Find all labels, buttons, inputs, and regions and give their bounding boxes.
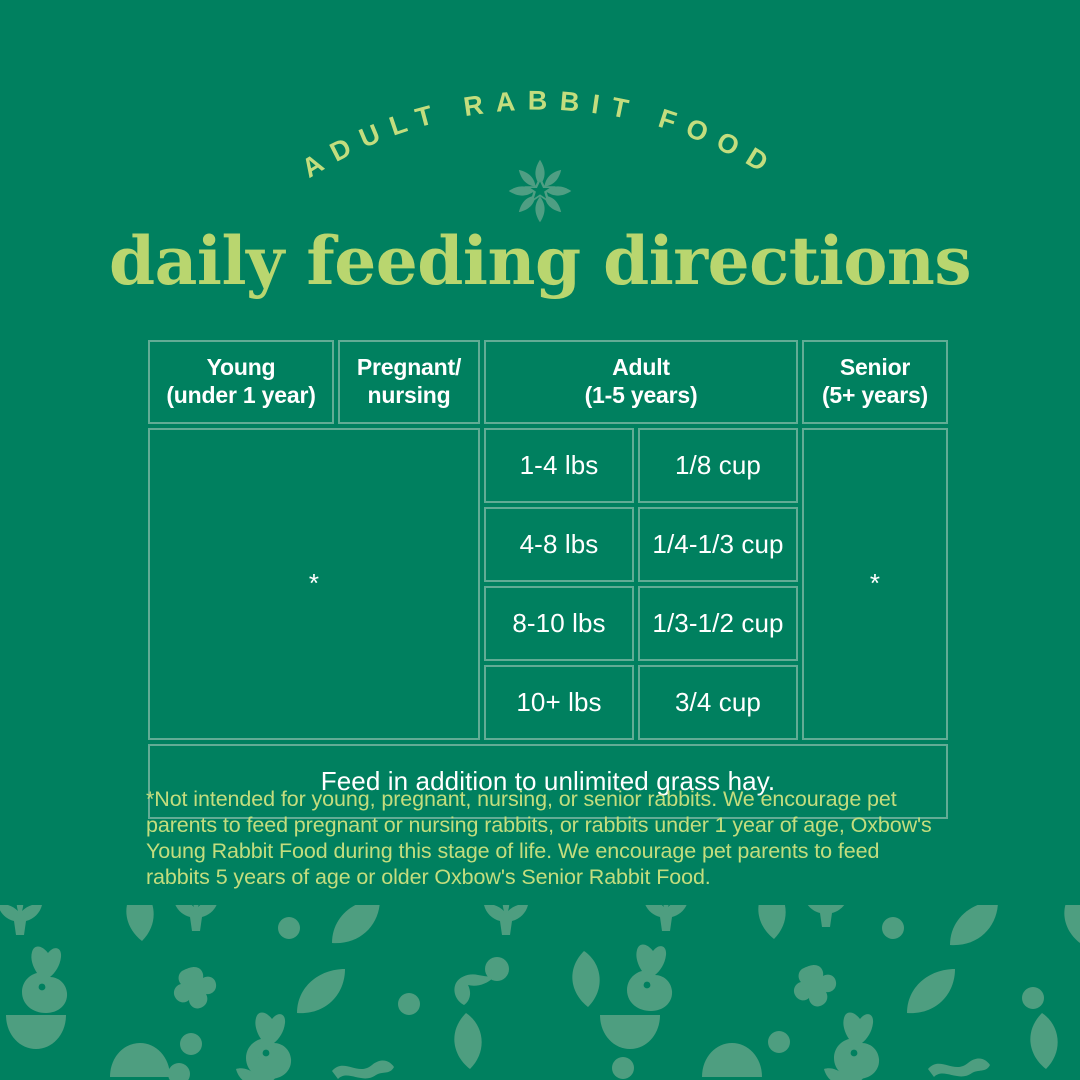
rosette-flower-icon	[506, 157, 574, 225]
header-senior-line2: (5+ years)	[806, 382, 944, 410]
header-pregnant-nursing: Pregnant/ nursing	[338, 340, 480, 424]
cell-adult-amount: 1/8 cup	[638, 428, 798, 503]
header-adult: Adult (1-5 years)	[484, 340, 798, 424]
table-header-row: Young (under 1 year) Pregnant/ nursing A…	[148, 340, 948, 424]
page-title: daily feeding directions	[0, 228, 1080, 294]
disclaimer-text: *Not intended for young, pregnant, nursi…	[146, 786, 936, 890]
cell-adult-amount: 1/3-1/2 cup	[638, 586, 798, 661]
decorative-pattern-band	[0, 905, 1080, 1080]
cell-adult-weight: 10+ lbs	[484, 665, 634, 740]
poster-canvas: ADULT RABBIT FOOD	[0, 0, 1080, 1080]
header-pregnant-line1: Pregnant/	[357, 354, 461, 380]
cell-adult-amount: 3/4 cup	[638, 665, 798, 740]
header-adult-line2: (1-5 years)	[488, 382, 794, 410]
header-adult-line1: Adult	[612, 354, 670, 380]
header-senior: Senior (5+ years)	[802, 340, 948, 424]
header-young-line2: (under 1 year)	[152, 382, 330, 410]
cell-senior-asterisk: *	[802, 428, 948, 740]
header-senior-line1: Senior	[840, 354, 910, 380]
header-young: Young (under 1 year)	[148, 340, 334, 424]
table-row: * 1-4 lbs 1/8 cup *	[148, 428, 948, 503]
cell-adult-weight: 4-8 lbs	[484, 507, 634, 582]
feeding-directions-table: Young (under 1 year) Pregnant/ nursing A…	[148, 340, 932, 819]
header-young-line1: Young	[207, 354, 276, 380]
cell-adult-amount: 1/4-1/3 cup	[638, 507, 798, 582]
header-pregnant-line2: nursing	[342, 382, 476, 410]
cell-adult-weight: 1-4 lbs	[484, 428, 634, 503]
cell-young-pregnant-asterisk: *	[148, 428, 480, 740]
cell-adult-weight: 8-10 lbs	[484, 586, 634, 661]
